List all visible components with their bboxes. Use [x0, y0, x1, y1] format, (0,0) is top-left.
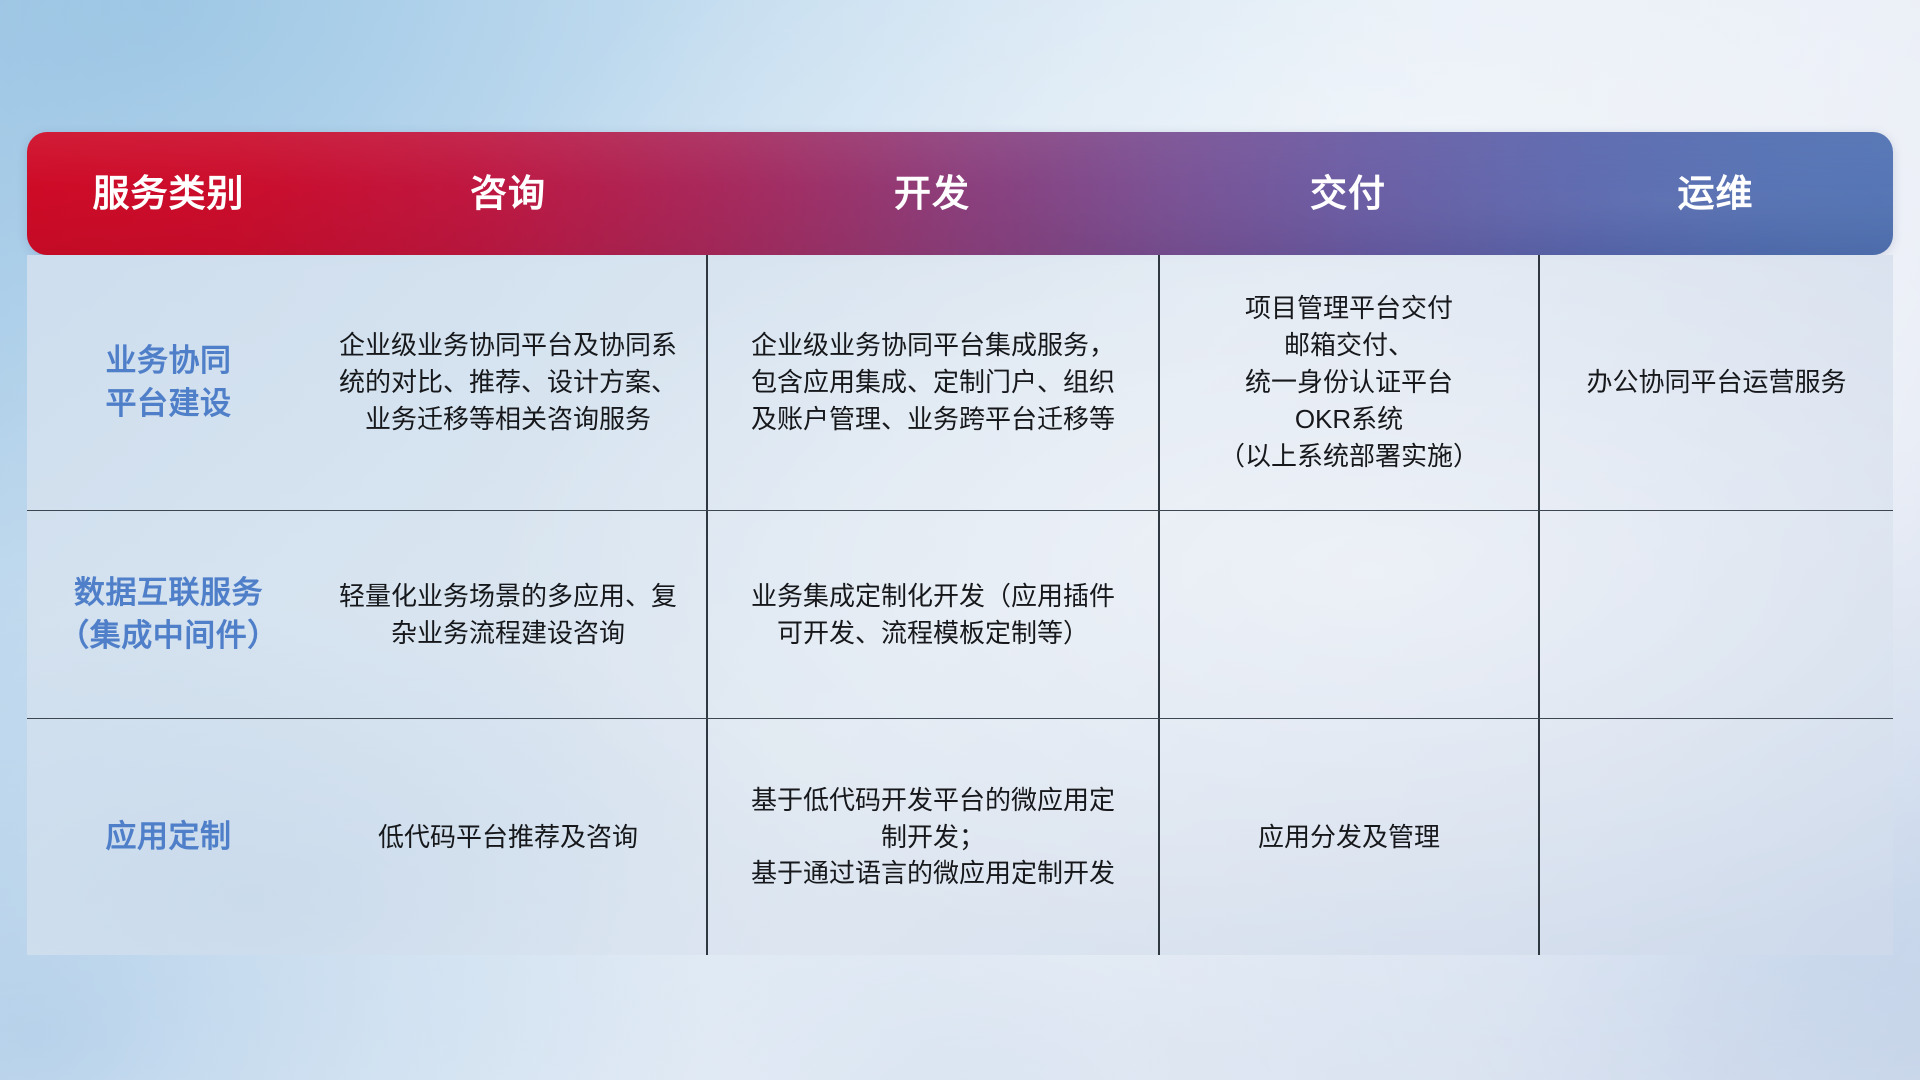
cell-development-row-2: 基于低代码开发平台的微应用定 制开发； 基于通过语言的微应用定制开发: [706, 719, 1158, 955]
header-cell-development: 开发: [706, 175, 1158, 212]
cell-consulting-row-0: 企业级业务协同平台及协同系 统的对比、推荐、设计方案、 业务迁移等相关咨询服务: [310, 255, 706, 510]
table-body-panel: 业务协同 平台建设 企业级业务协同平台及协同系 统的对比、推荐、设计方案、 业务…: [27, 255, 1893, 955]
cell-delivery-row-1: [1158, 511, 1538, 718]
header-cell-consulting: 咨询: [310, 175, 706, 212]
service-matrix-table: 服务类别 咨询 开发 交付 运维 业务协同 平台建设 企业级业务协同平台及协同系…: [27, 132, 1893, 960]
cell-delivery-row-0: 项目管理平台交付 邮箱交付、 统一身份认证平台 OKR系统 （以上系统部署实施）: [1158, 255, 1538, 510]
row-label-application-custom: 应用定制: [27, 719, 310, 955]
cell-consulting-row-1: 轻量化业务场景的多应用、复 杂业务流程建设咨询: [310, 511, 706, 718]
cell-consulting-row-2: 低代码平台推荐及咨询: [310, 719, 706, 955]
cell-development-row-1: 业务集成定制化开发（应用插件 可开发、流程模板定制等）: [706, 511, 1158, 718]
header-cell-delivery: 交付: [1158, 175, 1538, 212]
cell-operations-row-0: 办公协同平台运营服务: [1538, 255, 1893, 510]
header-cell-service-category: 服务类别: [27, 175, 310, 212]
table-row: 应用定制 低代码平台推荐及咨询 基于低代码开发平台的微应用定 制开发； 基于通过…: [27, 719, 1893, 955]
cell-development-row-0: 企业级业务协同平台集成服务， 包含应用集成、定制门户、组织 及账户管理、业务跨平…: [706, 255, 1158, 510]
row-label-business-collaboration: 业务协同 平台建设: [27, 255, 310, 510]
table-header-bar: 服务类别 咨询 开发 交付 运维: [27, 132, 1893, 255]
table-row: 业务协同 平台建设 企业级业务协同平台及协同系 统的对比、推荐、设计方案、 业务…: [27, 255, 1893, 511]
cell-operations-row-2: [1538, 719, 1893, 955]
header-row: 服务类别 咨询 开发 交付 运维: [27, 132, 1893, 255]
cell-operations-row-1: [1538, 511, 1893, 718]
table-row: 数据互联服务 （集成中间件） 轻量化业务场景的多应用、复 杂业务流程建设咨询 业…: [27, 511, 1893, 719]
header-cell-operations: 运维: [1538, 175, 1893, 212]
row-label-data-interconnect: 数据互联服务 （集成中间件）: [27, 511, 310, 718]
cell-delivery-row-2: 应用分发及管理: [1158, 719, 1538, 955]
